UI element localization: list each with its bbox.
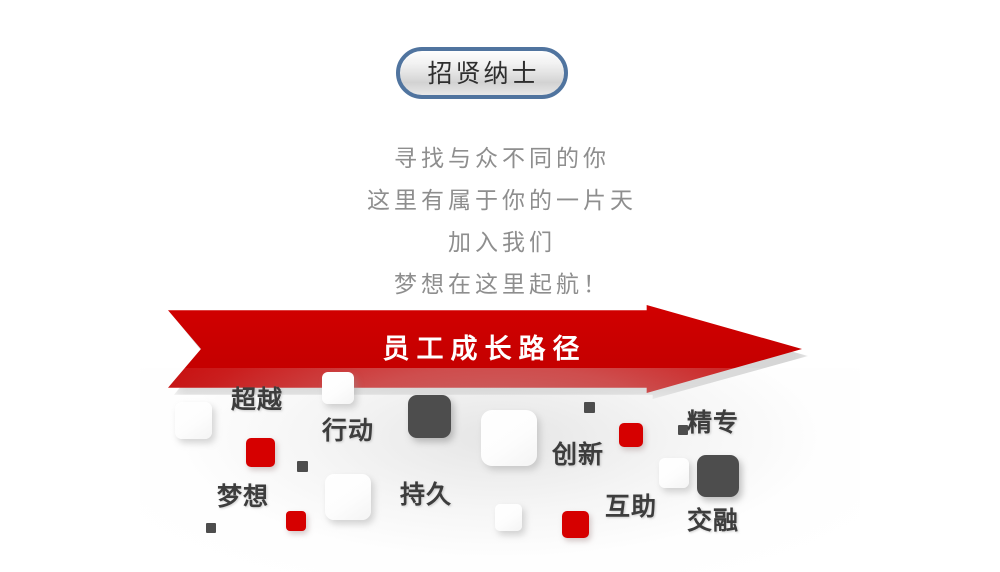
decorative-square-red <box>246 438 275 467</box>
header-area: 招贤纳士 <box>0 0 1000 130</box>
subtitle-line-3: 加入我们 <box>0 222 1000 264</box>
decorative-square-light <box>481 410 537 466</box>
cloud-keyword: 持久 <box>400 482 452 507</box>
decorative-square-light <box>659 458 689 488</box>
decorative-square-dark <box>408 395 451 438</box>
cloud-keyword: 互助 <box>605 494 657 519</box>
decorative-square-light <box>322 372 354 404</box>
decorative-square-red <box>619 423 643 447</box>
subtitle-line-2: 这里有属于你的一片天 <box>0 180 1000 222</box>
page-title: 招贤纳士 <box>424 61 539 86</box>
decorative-square-light <box>495 504 522 531</box>
cloud-keyword: 梦想 <box>217 484 269 509</box>
decorative-square-dot <box>584 402 595 413</box>
keyword-cloud: 超越行动梦想持久创新互助精专交融 <box>0 368 1000 572</box>
decorative-square-red <box>286 511 306 531</box>
subtitle-block: 寻找与众不同的你 这里有属于你的一片天 加入我们 梦想在这里起航！ <box>0 138 1000 306</box>
page-title-pill[interactable]: 招贤纳士 <box>396 47 568 99</box>
decorative-square-dot <box>206 523 216 533</box>
cloud-keyword: 创新 <box>552 442 604 467</box>
decorative-square-dot <box>297 461 308 472</box>
decorative-square-light <box>175 402 212 439</box>
banner-label: 员工成长路径 <box>376 336 587 363</box>
recruitment-poster: 招贤纳士 寻找与众不同的你 这里有属于你的一片天 加入我们 梦想在这里起航！ 员… <box>0 0 1000 572</box>
decorative-square-red <box>562 511 589 538</box>
decorative-square-light <box>325 474 371 520</box>
subtitle-line-4: 梦想在这里起航！ <box>0 264 1000 306</box>
cloud-keyword: 超越 <box>231 387 283 412</box>
decorative-square-dark <box>697 455 739 497</box>
cloud-keyword: 精专 <box>687 410 739 435</box>
subtitle-line-1: 寻找与众不同的你 <box>0 138 1000 180</box>
cloud-keyword: 交融 <box>687 508 739 533</box>
cloud-keyword: 行动 <box>322 418 374 443</box>
